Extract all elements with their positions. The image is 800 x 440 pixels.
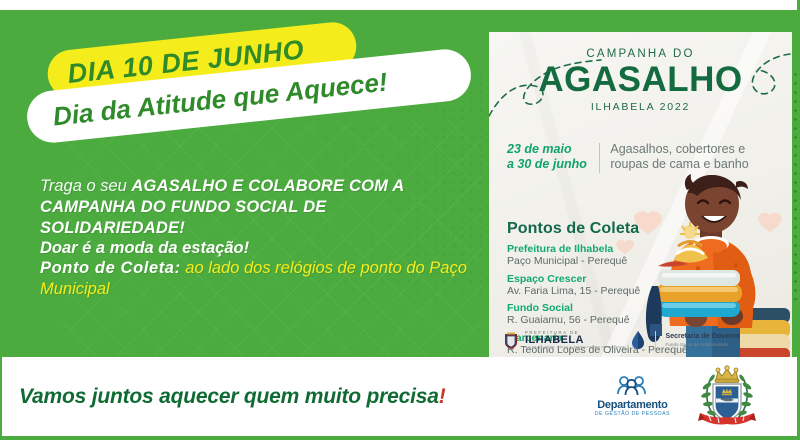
- left-green-edge: [0, 10, 2, 436]
- ponto-coleta-line: Ponto de Coleta: ao lado dos relógios de…: [40, 258, 470, 300]
- date-range-block: 23 de maio a 30 de junho: [507, 142, 587, 172]
- logo-divider: [655, 331, 656, 349]
- doar-line: Doar é a moda da estação!: [40, 239, 470, 258]
- departamento-logo: Departamento DE GESTÃO DE PESSOAS: [595, 375, 670, 417]
- departamento-subtitle: DE GESTÃO DE PESSOAS: [595, 412, 670, 417]
- lead-soft-text: Traga o seu: [40, 177, 127, 195]
- card-heading-block: CAMPANHA DO AGASALHO ILHABELA 2022: [489, 48, 792, 113]
- footer-logo-group: Departamento DE GESTÃO DE PESSOAS: [595, 364, 758, 430]
- people-group-icon: [615, 375, 649, 395]
- card-subtitle: ILHABELA 2022: [489, 101, 792, 113]
- poster-card: CAMPANHA DO AGASALHO ILHABELA 2022 23 de…: [489, 32, 792, 357]
- date-range-line-1: 23 de maio: [507, 142, 587, 157]
- ilhabela-wordmark: PREFEITURA DE ILHABELA A ILHA DO AMOR, Ú…: [525, 331, 625, 349]
- departamento-name: Departamento: [595, 400, 670, 411]
- illustration-man-holding-blankets: [612, 148, 792, 357]
- fundo-social-drop-icon: [631, 330, 645, 350]
- dates-divider: [599, 143, 601, 173]
- hero-copy: Traga o seu AGASALHO E COLABORE COM A CA…: [40, 176, 470, 300]
- footer-slogan-exclamation: !: [439, 385, 446, 408]
- card-kicker: CAMPANHA DO: [489, 48, 792, 60]
- ilhabela-coat-of-arms-icon: [696, 364, 758, 430]
- footer-bar: Vamos juntos aquecer quem muito precisa!…: [2, 357, 798, 436]
- secretaria-title: Secretaria de Governo: [666, 333, 741, 342]
- card-title: AGASALHO: [489, 62, 792, 98]
- footer-slogan: Vamos juntos aquecer quem muito precisa!: [19, 385, 446, 409]
- secretaria-subtitle: Fundo Social de Solidariedade: [666, 342, 741, 348]
- prefeitura-tagline: A ILHA DO AMOR, ÚNICA E TRABALHANDO POR …: [525, 346, 625, 349]
- ponto-coleta-label: Ponto de Coleta:: [40, 259, 181, 277]
- ribbon-group: DIA 10 DE JUNHO Dia da Atitude que Aquec…: [2, 10, 472, 140]
- date-range-line-2: a 30 de junho: [507, 157, 587, 172]
- lead-paragraph: Traga o seu AGASALHO E COLABORE COM A CA…: [40, 176, 470, 239]
- footer-slogan-text: Vamos juntos aquecer quem muito precisa: [19, 385, 439, 408]
- hero-section: DIA 10 DE JUNHO Dia da Atitude que Aquec…: [2, 10, 798, 357]
- secretaria-wordmark: Secretaria de Governo Fundo Social de So…: [666, 333, 741, 347]
- card-logo-strip: PREFEITURA DE ILHABELA A ILHA DO AMOR, Ú…: [503, 330, 740, 350]
- campaign-banner: DIA 10 DE JUNHO Dia da Atitude que Aquec…: [0, 0, 800, 440]
- ilhabela-crest-icon: [503, 331, 519, 350]
- bottom-green-edge: [0, 436, 800, 440]
